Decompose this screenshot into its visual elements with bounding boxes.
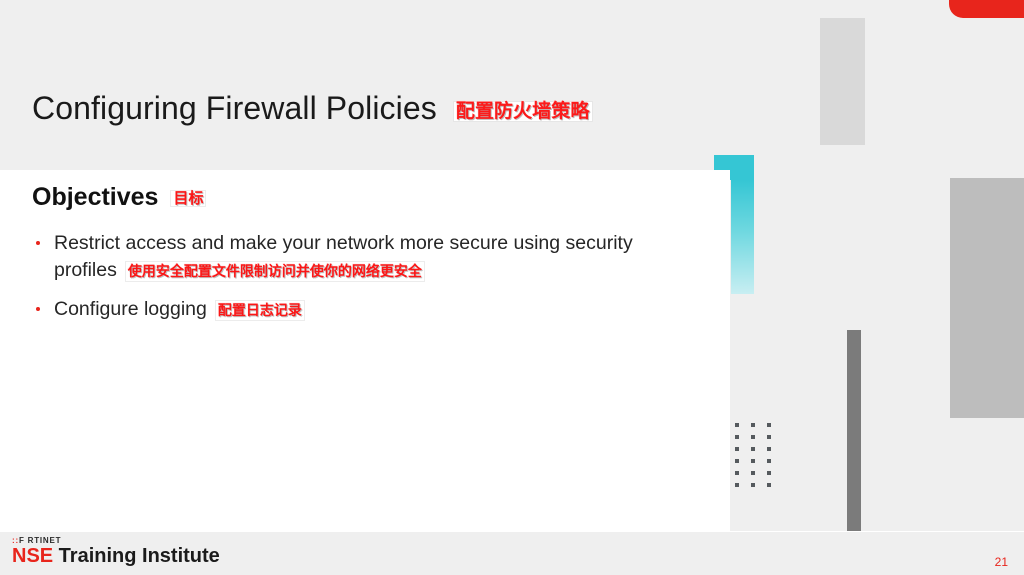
nse-text: NSE bbox=[12, 545, 53, 567]
page-title-text: Configuring Firewall Policies bbox=[32, 90, 437, 126]
slide-canvas: Configuring Firewall Policies配置防火墙策略 Obj… bbox=[0, 0, 1024, 575]
fortinet-mark-icon: :: bbox=[12, 536, 19, 545]
grid-dot bbox=[735, 471, 739, 475]
list-item: Restrict access and make your network mo… bbox=[32, 230, 692, 284]
grid-dot bbox=[751, 435, 755, 439]
training-institute-text: Training Institute bbox=[53, 545, 220, 567]
grid-dot bbox=[735, 447, 739, 451]
objectives-heading: Objectives目标 bbox=[32, 185, 206, 210]
footer-divider bbox=[0, 531, 1024, 532]
grid-dot bbox=[735, 483, 739, 487]
grid-dot bbox=[751, 459, 755, 463]
fortinet-wordmark: ::F RTINET bbox=[12, 537, 220, 545]
grid-dot bbox=[751, 423, 755, 427]
gray-block-decoration bbox=[950, 178, 1024, 418]
grid-dot bbox=[735, 459, 739, 463]
list-item-text: Configure logging bbox=[54, 298, 207, 320]
teal-flag-tail bbox=[731, 180, 754, 294]
page-title: Configuring Firewall Policies配置防火墙策略 bbox=[32, 92, 593, 124]
grid-dot bbox=[767, 447, 771, 451]
fortinet-wordmark-text: F RTINET bbox=[19, 536, 61, 545]
red-tab-decoration bbox=[949, 0, 1024, 18]
grid-dot bbox=[767, 423, 771, 427]
objectives-list: Restrict access and make your network mo… bbox=[32, 230, 692, 335]
grid-dot bbox=[735, 435, 739, 439]
objectives-heading-translation: 目标 bbox=[170, 190, 206, 207]
grid-dot bbox=[767, 471, 771, 475]
grid-dot bbox=[751, 447, 755, 451]
fortinet-nse-logo: ::F RTINET NSE Training Institute bbox=[12, 537, 220, 566]
grid-dot bbox=[751, 483, 755, 487]
grid-dot bbox=[767, 459, 771, 463]
page-number: 21 bbox=[995, 555, 1008, 569]
grid-dot bbox=[735, 423, 739, 427]
gray-bar-decoration bbox=[820, 18, 865, 145]
grid-dot bbox=[767, 435, 771, 439]
list-item: Configure logging配置日志记录 bbox=[32, 296, 692, 323]
list-item-translation: 使用安全配置文件限制访问并使你的网络更安全 bbox=[125, 261, 425, 282]
grid-dot bbox=[751, 471, 755, 475]
slide-header-band: Configuring Firewall Policies配置防火墙策略 bbox=[0, 0, 810, 155]
nse-training-institute-wordmark: NSE Training Institute bbox=[12, 546, 220, 566]
list-item-translation: 配置日志记录 bbox=[215, 300, 305, 321]
dot-grid-decoration bbox=[735, 423, 783, 495]
objectives-heading-text: Objectives bbox=[32, 183, 158, 211]
page-title-translation: 配置防火墙策略 bbox=[453, 101, 593, 122]
content-card: Objectives目标 Restrict access and make yo… bbox=[0, 170, 730, 531]
slide-footer: ::F RTINET NSE Training Institute 21 bbox=[0, 531, 1024, 575]
grid-dot bbox=[767, 483, 771, 487]
